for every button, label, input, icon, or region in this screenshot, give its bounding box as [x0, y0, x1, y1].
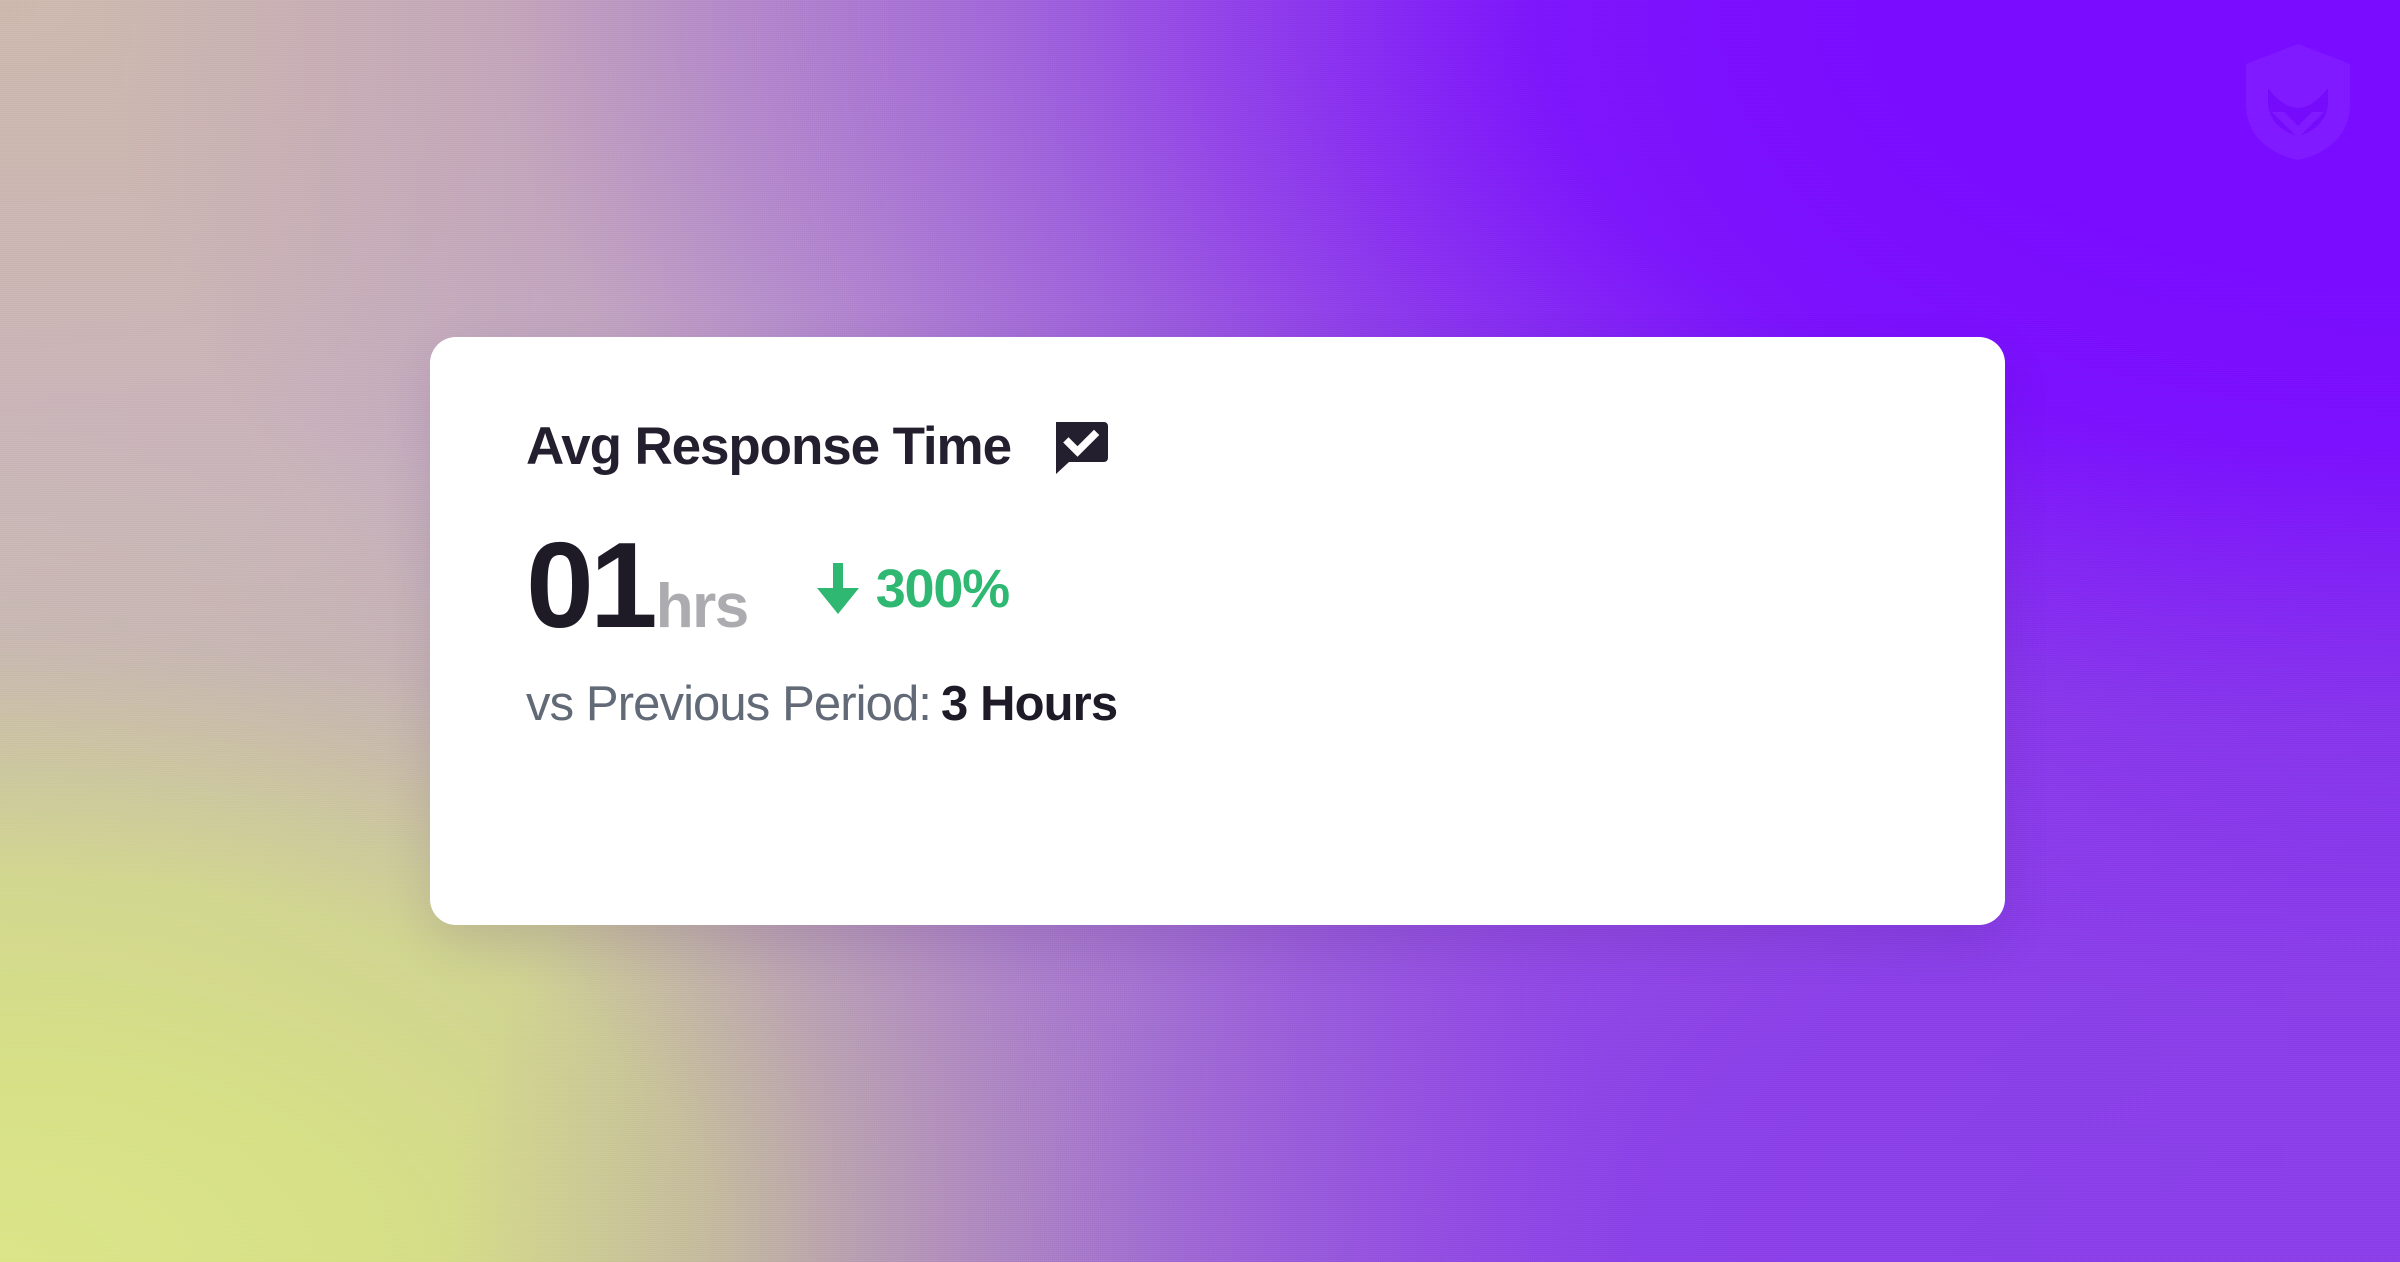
comparison-label: vs Previous Period: [526, 677, 931, 731]
comparison-row: vs Previous Period:3 Hours [526, 680, 2005, 729]
metric-value: 01 [526, 524, 654, 646]
card-header: Avg Response Time [526, 410, 2005, 482]
delta-group: 300% [816, 562, 1009, 616]
metric-card: Avg Response Time 01 hrs 300% vs Previou… [430, 337, 2005, 925]
message-check-icon [1049, 417, 1111, 479]
metric-unit: hrs [656, 576, 748, 638]
page-title: Avg Response Time [526, 420, 1011, 473]
metric-row: 01 hrs 300% [526, 524, 2005, 640]
delta-percent: 300% [876, 562, 1009, 616]
arrow-down-icon [816, 563, 860, 615]
comparison-value: 3 Hours [941, 677, 1117, 731]
